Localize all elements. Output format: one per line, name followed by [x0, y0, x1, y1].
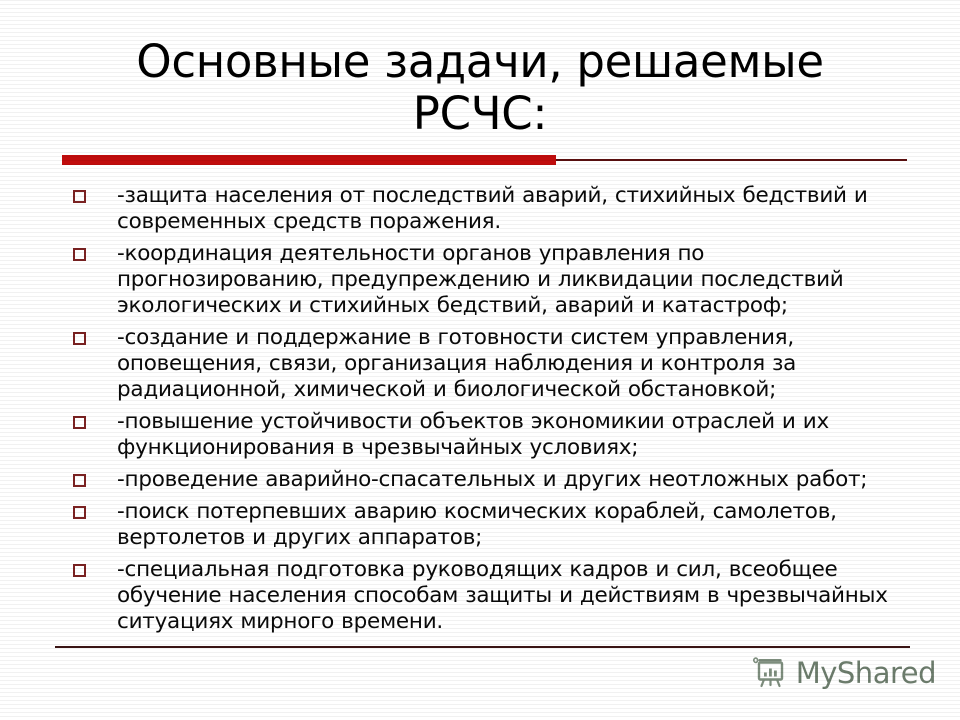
flipchart-chart-icon: [753, 655, 789, 691]
square-outline-bullet-icon: [73, 248, 86, 261]
list-item: -создание и поддержание в готовности сис…: [62, 325, 912, 403]
myshared-watermark: MyShared: [753, 655, 936, 691]
list-item-text: -создание и поддержание в готовности сис…: [117, 325, 912, 403]
slide-canvas: Основные задачи, решаемые РСЧС: -защита …: [0, 0, 960, 720]
square-outline-bullet-icon: [73, 332, 86, 345]
square-outline-bullet-icon: [73, 416, 86, 429]
title-divider: [62, 155, 907, 165]
list-item-text: -поиск потерпевших аварию космических ко…: [117, 499, 912, 551]
list-item-text: -координация деятельности органов управл…: [117, 241, 912, 319]
list-item: -специальная подготовка руководящих кадр…: [62, 557, 912, 635]
title-divider-bar: [62, 155, 556, 165]
list-item-text: -специальная подготовка руководящих кадр…: [117, 557, 912, 635]
list-item: -повышение устойчивости объектов экономи…: [62, 409, 912, 461]
list-item: -защита населения от последствий аварий,…: [62, 183, 912, 235]
myshared-watermark-text: MyShared: [796, 656, 936, 690]
square-outline-bullet-icon: [73, 564, 86, 577]
title-divider-rule: [556, 159, 907, 161]
square-outline-bullet-icon: [73, 474, 86, 487]
task-bullet-list: -защита населения от последствий аварий,…: [62, 183, 912, 641]
list-item-text: -повышение устойчивости объектов экономи…: [117, 409, 912, 461]
list-item-text: -защита населения от последствий аварий,…: [117, 183, 912, 235]
square-outline-bullet-icon: [73, 506, 86, 519]
square-outline-bullet-icon: [73, 190, 86, 203]
page-title: Основные задачи, решаемые РСЧС:: [62, 36, 898, 140]
list-item: -координация деятельности органов управл…: [62, 241, 912, 319]
page-title-text: Основные задачи, решаемые РСЧС:: [62, 36, 898, 140]
list-item-text: -проведение аварийно-спасательных и друг…: [117, 467, 912, 493]
list-item: -поиск потерпевших аварию космических ко…: [62, 499, 912, 551]
footer-divider: [55, 646, 910, 648]
list-item: -проведение аварийно-спасательных и друг…: [62, 467, 912, 493]
